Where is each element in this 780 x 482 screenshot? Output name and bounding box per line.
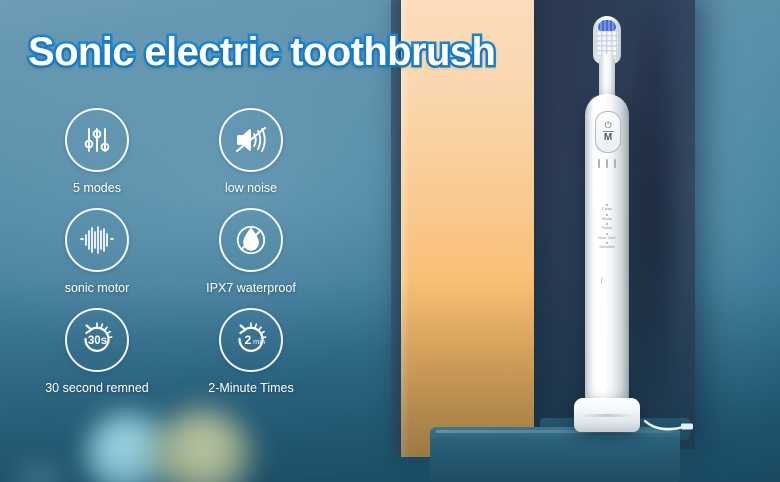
battery-bar [614, 159, 616, 168]
page-title: Sonic electric toothbrush [28, 30, 495, 75]
mode-label: White [602, 218, 612, 222]
feature-label: 5 modes [73, 181, 121, 195]
timer-2min-icon: 2 min [219, 308, 283, 372]
charging-base-groove [579, 414, 635, 417]
feature-list: 5 modes low noise [38, 108, 328, 395]
mode-bullet [606, 233, 608, 235]
svg-text:2: 2 [245, 333, 252, 347]
brush-bristles-indicator [598, 20, 616, 31]
feature-item-ipx7-waterproof: IPX7 waterproof [192, 208, 310, 295]
mode-label: Sensitive [599, 246, 614, 250]
feature-label: IPX7 waterproof [206, 281, 296, 295]
feature-label: 2-Minute Times [208, 381, 293, 395]
mode-bullet [606, 204, 608, 206]
mode-label: Gum Care [598, 237, 615, 241]
mode-label: Clean [602, 208, 612, 212]
battery-bar [598, 159, 600, 168]
feature-item-low-noise: low noise [192, 108, 310, 195]
charging-cable [643, 419, 701, 433]
power-icon: ⏻ [604, 121, 611, 130]
svg-text:min: min [253, 337, 265, 346]
brand-mark: ʃ [601, 278, 603, 284]
mode-letter: M [604, 133, 612, 143]
feature-label: 30 second remned [45, 381, 149, 395]
mode-label: Polish [602, 227, 612, 231]
feature-item-30-second-reminder: 30s 30 second remned [38, 308, 156, 395]
product-toothbrush: ⏻ M Clean White Polish Gum Care Sensitiv… [571, 6, 643, 438]
timer-30s-icon: 30s [65, 308, 129, 372]
mode-bullet [606, 242, 608, 244]
mode-label-list: Clean White Polish Gum Care Sensitive [589, 204, 625, 250]
battery-bar [606, 159, 608, 168]
product-banner: Sonic electric toothbrush 5 modes [0, 0, 780, 482]
svg-text:30s: 30s [88, 335, 107, 347]
power-mode-button[interactable]: ⏻ M [595, 111, 621, 153]
sound-wave-icon [65, 208, 129, 272]
battery-indicator [598, 159, 616, 168]
feature-item-2-minute-timer: 2 min 2-Minute Times [192, 308, 310, 395]
feature-label: sonic motor [65, 281, 130, 295]
feature-item-5-modes: 5 modes [38, 108, 156, 195]
mode-bullet [606, 223, 608, 225]
sliders-icon [65, 108, 129, 172]
mute-speaker-icon [219, 108, 283, 172]
water-drop-no-icon [219, 208, 283, 272]
mode-bullet [606, 214, 608, 216]
feature-item-sonic-motor: sonic motor [38, 208, 156, 295]
feature-label: low noise [225, 181, 277, 195]
